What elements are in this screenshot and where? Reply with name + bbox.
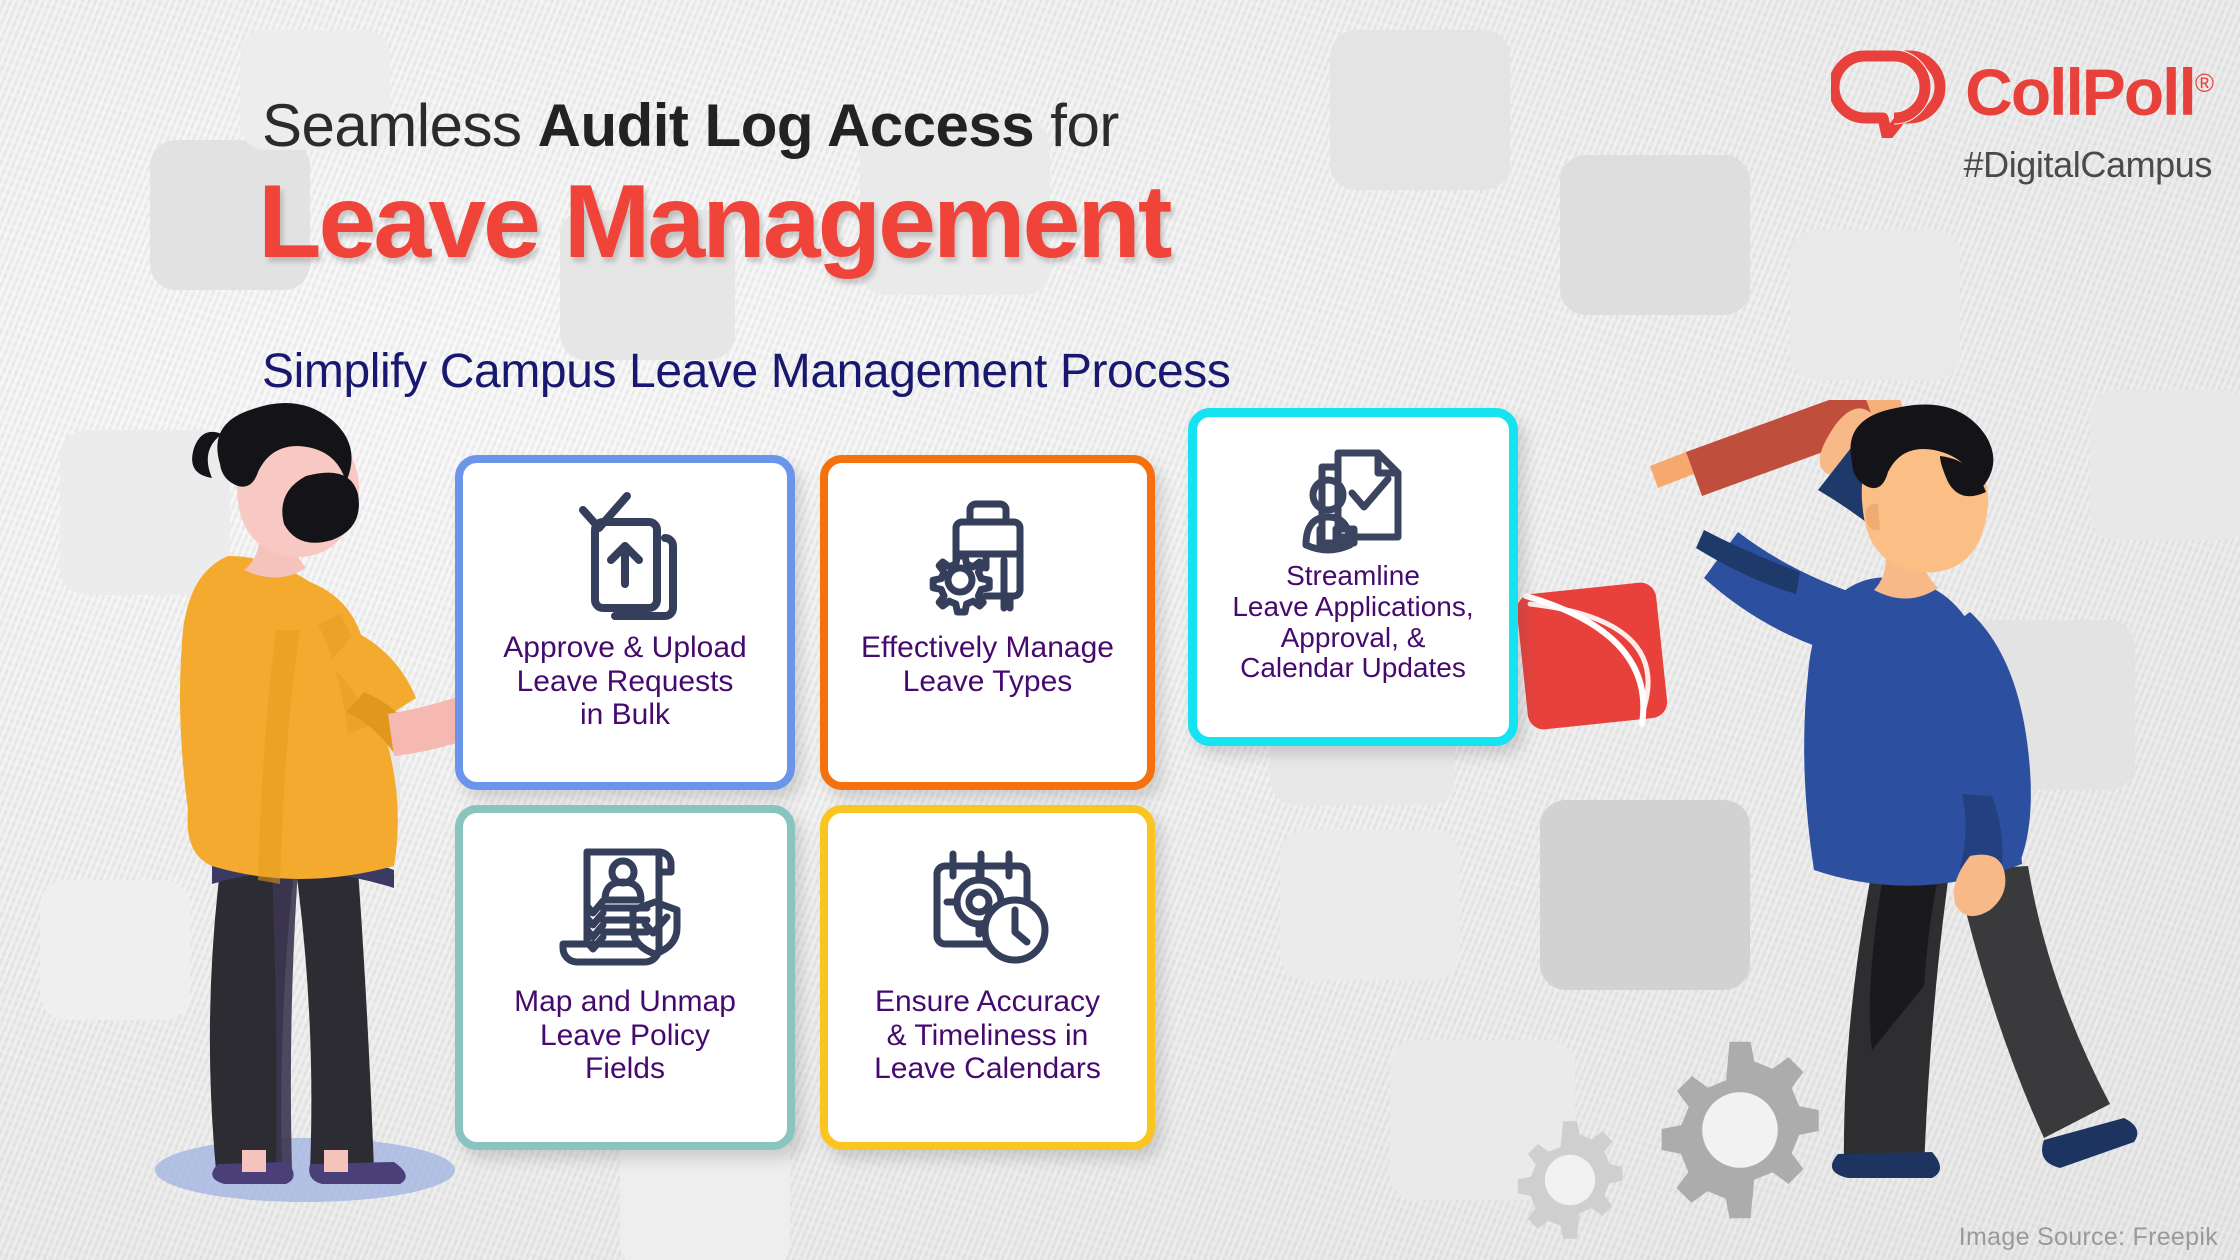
feature-card-map-unmap-policy[interactable]: Map and Unmap Leave Policy Fields: [455, 805, 795, 1150]
feature-card-leave-calendar-accuracy[interactable]: Ensure Accuracy & Timeliness in Leave Ca…: [820, 805, 1155, 1150]
document-upload-check-icon: [561, 479, 689, 629]
calendar-target-clock-icon: [921, 833, 1055, 983]
user-document-approved-icon: [1292, 431, 1414, 559]
brand-name: CollPoll®: [1965, 59, 2212, 125]
image-source-credit: Image Source: Freepik: [1959, 1223, 2218, 1252]
brand-name-text: CollPoll: [1965, 55, 2195, 129]
feature-card-label: Map and Unmap Leave Policy Fields: [508, 985, 742, 1086]
briefcase-gear-icon: [924, 479, 1052, 629]
feature-card-manage-leave-types[interactable]: Effectively Manage Leave Types: [820, 455, 1155, 790]
page-subtitle: Simplify Campus Leave Management Process: [262, 344, 1230, 399]
feature-card-label: Ensure Accuracy & Timeliness in Leave Ca…: [868, 985, 1107, 1086]
feature-card-approve-upload[interactable]: Approve & Upload Leave Requests in Bulk: [455, 455, 795, 790]
infographic-canvas: Seamless Audit Log Access for Leave Mana…: [0, 0, 2240, 1260]
feature-card-label: Approve & Upload Leave Requests in Bulk: [497, 631, 753, 732]
headline-part1: Seamless: [262, 92, 538, 159]
brand-tagline: #DigitalCampus: [1831, 144, 2212, 186]
registered-mark: ®: [2195, 68, 2212, 98]
headline-part2: for: [1034, 92, 1119, 159]
speech-bubble-chat-icon: [1831, 46, 1949, 138]
right-character-illustration: [1640, 400, 2180, 1260]
feature-card-label: Streamline Leave Applications, Approval,…: [1226, 561, 1479, 684]
page-title: Leave Management: [258, 170, 1169, 274]
feature-card-label: Effectively Manage Leave Types: [855, 631, 1120, 698]
feature-card-streamline-applications[interactable]: Streamline Leave Applications, Approval,…: [1188, 408, 1518, 746]
gear-small-icon: [1500, 1110, 1640, 1250]
headline-bold: Audit Log Access: [538, 92, 1035, 159]
page-headline: Seamless Audit Log Access for: [262, 96, 1119, 156]
brand-logo[interactable]: CollPoll® #DigitalCampus: [1831, 46, 2212, 186]
policy-scroll-shield-icon: [559, 833, 691, 983]
